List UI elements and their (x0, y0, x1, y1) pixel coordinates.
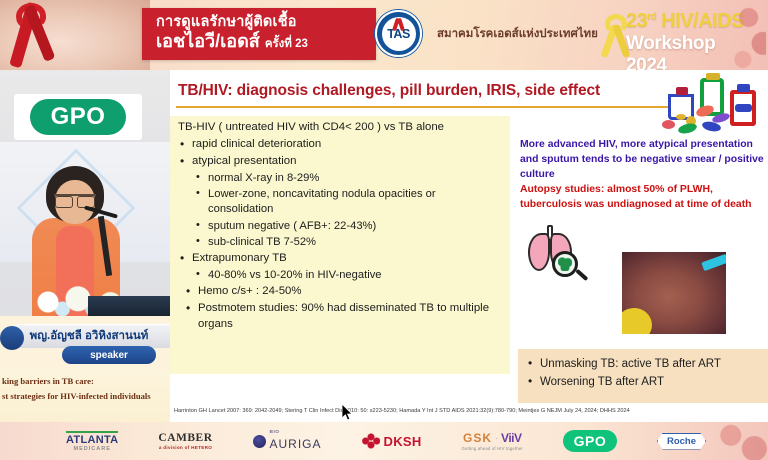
tas-logo-text: TAS (387, 27, 410, 41)
slide-references: Harrinton GH Lancet 2007: 369: 2042-2049… (174, 408, 766, 414)
clinical-photo-instrument (701, 254, 726, 271)
clinical-photo (622, 252, 726, 334)
sponsor-name-auriga: AURIGA (270, 437, 322, 451)
sponsor-logo-gpo: GPO (563, 426, 617, 456)
virus-decoration-icon (708, 0, 766, 70)
bullet-item: Hemo c/s+ : 24-50% (178, 284, 504, 299)
yellow-ribbon-loop-icon (605, 14, 627, 34)
content-lead-line: TB-HIV ( untreated HIV with CD4< 200 ) v… (178, 120, 504, 135)
iris-highlight-box: Unmasking TB: active TB after ART Worsen… (518, 349, 768, 403)
footer-virus-decoration-icon (706, 422, 768, 460)
sponsor-footer: ATLANTA MEDICARE CAMBER a division of HE… (0, 422, 768, 460)
auriga-text-block: BIO AURIGA (270, 430, 322, 453)
sponsor-sub-atlanta: MEDICARE (74, 446, 111, 452)
bullet-item: Postmotem studies: 90% had disseminated … (178, 301, 504, 332)
sponsor-logo-roche: Roche (657, 426, 706, 456)
bullet-text: Extrapumonary TB (192, 252, 287, 264)
pill-capsule-icon-1 (677, 122, 698, 135)
thai-title-line2-main: เอชไอวี/เอดส์ (156, 31, 260, 51)
iris-bullet-list: Unmasking TB: active TB after ART Worsen… (526, 357, 762, 390)
sponsor-name-gpo: GPO (563, 430, 617, 452)
bacteria-icon (558, 257, 572, 271)
sponsor-logo-dksh: DKSH (362, 426, 422, 456)
sponsor-name-dksh: DKSH (384, 434, 422, 449)
screenshot-root: การดูแลรักษาผู้ติดเชื้อ เอชไอวี/เอดส์ คร… (0, 0, 768, 460)
sponsor-name-atlanta: ATLANTA (66, 431, 118, 446)
clinical-photo-drape (622, 308, 652, 334)
sponsor-logo-atlanta: ATLANTA MEDICARE (66, 426, 118, 456)
workshop-number: 23 (626, 10, 647, 32)
sub-bullet-item: 40-80% vs 10-20% in HIV-negative (192, 268, 504, 283)
green-bottle-cap-icon (706, 73, 720, 80)
slide-title: TB/HIV: diagnosis challenges, pill burde… (178, 82, 678, 100)
bullet-list-level2: normal X-ray in 8-29% Lower-zone, noncav… (192, 171, 504, 249)
slide-main-content-panel: TB-HIV ( untreated HIV with CD4< 200 ) v… (170, 116, 510, 374)
workshop-ordinal: rd (647, 11, 656, 22)
speaker-role: speaker (90, 350, 128, 361)
auriga-mark-icon (253, 435, 266, 448)
title-underline (176, 106, 668, 108)
sponsor-name-gsk: GSK (463, 431, 492, 445)
left-lung-icon (528, 233, 550, 271)
gpo-backdrop-banner: GPO (14, 94, 142, 140)
thai-title-line2: เอชไอวี/เอดส์ ครั้งที่ 23 (156, 31, 364, 52)
sub-bullet-item: Lower-zone, noncavitating nodula opaciti… (192, 187, 504, 217)
session-caption-line2: st strategies for HIV-infected individua… (2, 389, 166, 404)
sponsor-logo-auriga: BIO AURIGA (253, 426, 322, 456)
sponsor-name-viiv: ViiV (501, 431, 521, 445)
gsk-viiv-separator-icon: · (495, 433, 498, 443)
sponsor-logo-row: ATLANTA MEDICARE CAMBER a division of HE… (66, 422, 706, 460)
bullet-item: rapid clinical deterioration (178, 137, 504, 152)
tas-logo: TAS (375, 10, 422, 57)
lungs-magnifier-illustration (522, 225, 594, 287)
speaker-video-sidebar: GPO พญ.อัญชลี อวิหิงสานนท์ speaker (0, 70, 170, 422)
sponsor-name-roche: Roche (657, 433, 706, 450)
speaker-role-bar: speaker (62, 346, 156, 364)
hand-ribbon-photo (0, 0, 150, 70)
conference-header-banner: การดูแลรักษาผู้ติดเชื้อ เอชไอวี/เอดส์ คร… (0, 0, 768, 70)
gsk-viiv-row: GSK · ViiV (463, 431, 521, 445)
sub-bullet-item: sub-clinical TB 7-52% (192, 235, 504, 250)
pill-tablet-icon-3 (662, 120, 675, 129)
sub-bullet-item: sputum negative ( AFB+: 22-43%) (192, 219, 504, 234)
iris-bullet-item: Unmasking TB: active TB after ART (526, 357, 762, 372)
bullet-item: Extrapumonary TB 40-80% vs 10-20% in HIV… (178, 251, 504, 283)
bullet-list-level1: rapid clinical deterioration atypical pr… (178, 137, 504, 332)
speaker-name-bar: พญ.อัญชลี อวิหิงสานนท์ (8, 324, 170, 348)
presentation-slide: TB/HIV: diagnosis challenges, pill burde… (170, 70, 768, 422)
blue-bottle-cap-icon (676, 87, 688, 95)
pill-tablet-icon-1 (695, 103, 715, 118)
speaker-nameplate: พญ.อัญชลี อวิหิงสานนท์ speaker (0, 318, 170, 370)
glasses-icon (54, 194, 96, 204)
right-note-advanced-hiv: More advanced HIV, more atypical present… (520, 138, 768, 182)
red-bottle-cap-icon (737, 84, 750, 92)
gpo-logo-text: GPO (30, 99, 126, 135)
sponsor-logo-gsk-viiv: GSK · ViiV Getting ahead of HIV together (462, 426, 523, 456)
sponsor-sub-gsk: Getting ahead of HIV together (462, 446, 523, 451)
magnifier-handle-icon (576, 269, 589, 281)
session-caption-line1: king barriers in TB care: (2, 374, 166, 389)
bullet-text: rapid clinical deterioration (192, 138, 321, 150)
sponsor-logo-camber: CAMBER a division of HETERO (158, 426, 212, 456)
bullet-item: atypical presentation normal X-ray in 8-… (178, 154, 504, 249)
pill-burden-illustration (650, 72, 762, 138)
speaker-camera-feed: GPO (0, 70, 170, 316)
iris-bullet-item: Worsening TB after ART (526, 375, 762, 390)
thai-title-edition: ครั้งที่ 23 (265, 38, 308, 50)
speaker-name: พญ.อัญชลี อวิหิงสานนท์ (30, 327, 149, 345)
tas-logo-inner: TAS (382, 17, 416, 51)
podium (88, 296, 170, 316)
sub-bullet-item: normal X-ray in 8-29% (192, 171, 504, 186)
right-note-autopsy-studies: Autopsy studies: almost 50% of PLWH, tub… (520, 183, 768, 213)
nameplate-badge-icon (0, 326, 24, 350)
bullet-text: atypical presentation (192, 155, 296, 167)
bullet-list-level2: 40-80% vs 10-20% in HIV-negative (192, 268, 504, 283)
sponsor-sub-auriga: BIO (270, 430, 322, 435)
pill-tablet-icon-4 (676, 114, 686, 120)
session-caption: king barriers in TB care: st strategies … (0, 370, 170, 422)
red-ribbon-icon (15, 2, 47, 30)
sponsor-name-camber: CAMBER (158, 432, 212, 444)
red-bottle-label-icon (735, 104, 752, 112)
bullet-text: Postmotem studies: 90% had disseminated … (198, 302, 489, 329)
thai-title-line1: การดูแลรักษาผู้ติดเชื้อ (156, 14, 364, 31)
thai-conference-title-box: การดูแลรักษาผู้ติดเชื้อ เอชไอวี/เอดส์ คร… (142, 8, 376, 60)
association-name: สมาคมโรคเอดส์แห่งประเทศไทย (437, 25, 598, 43)
dksh-mark-icon (362, 433, 380, 449)
sponsor-sub-camber: a division of HETERO (159, 445, 212, 450)
bullet-text: Hemo c/s+ : 24-50% (198, 285, 302, 297)
